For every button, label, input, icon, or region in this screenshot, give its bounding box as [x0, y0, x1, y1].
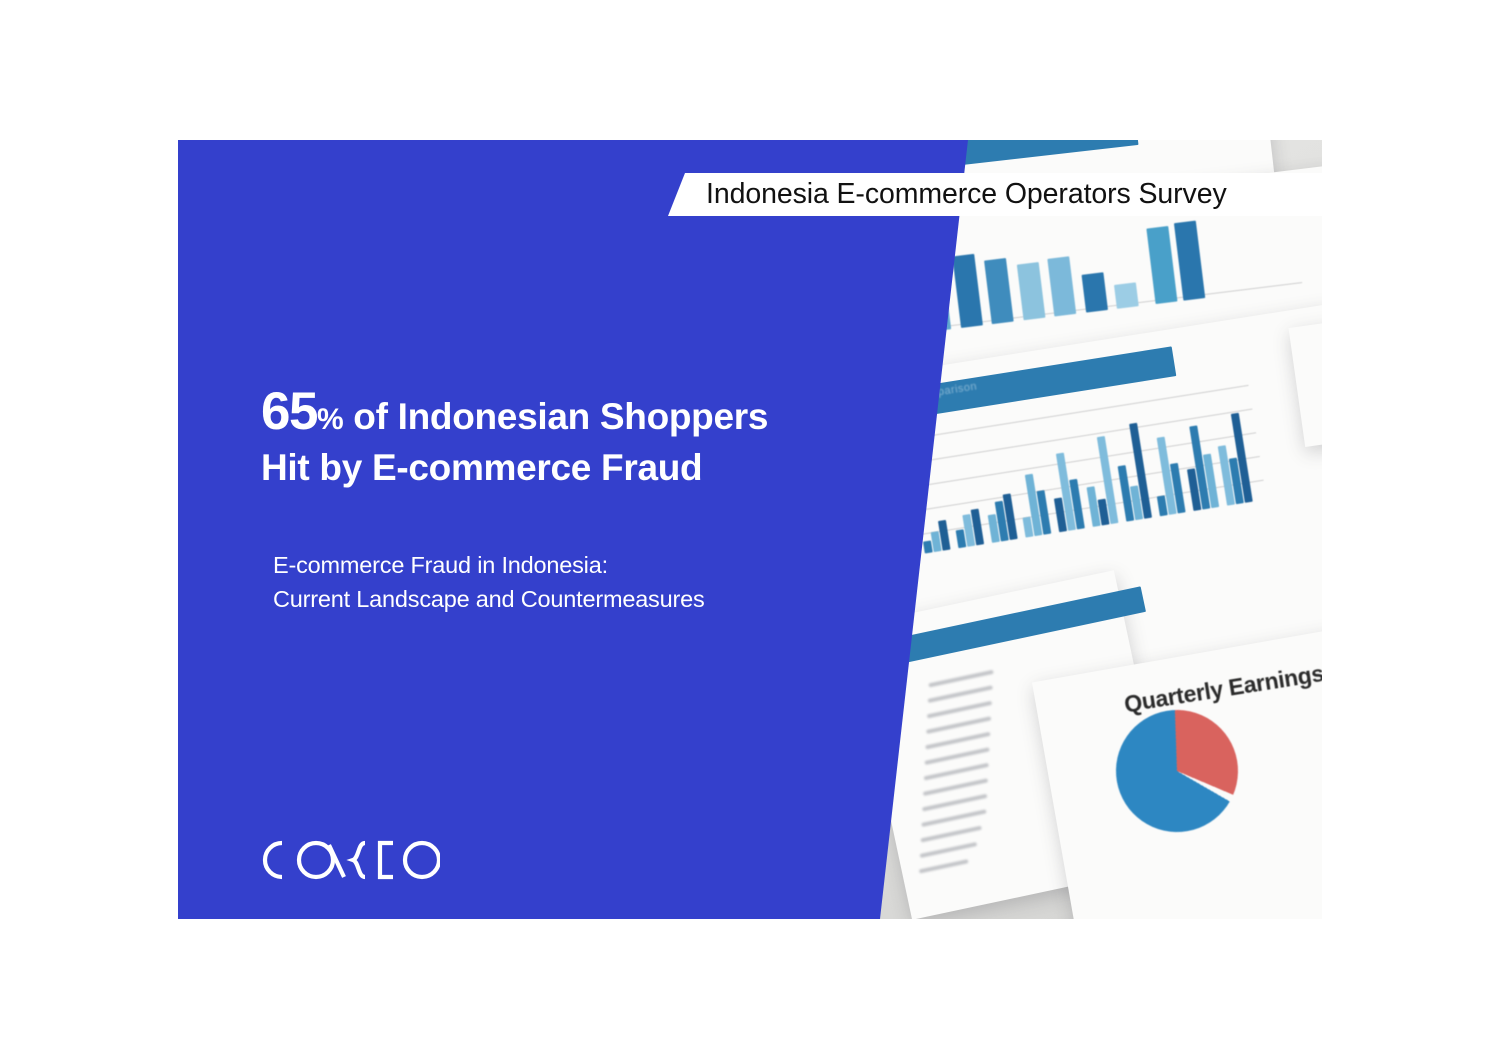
- subtitle-line-2: Current Landscape and Countermeasures: [273, 582, 893, 616]
- table-row: [921, 809, 986, 827]
- table-row: [920, 826, 981, 843]
- survey-title-text: Indonesia E-commerce Operators Survey: [706, 180, 1227, 209]
- headline-line-2: Hit by E-commerce Fraud: [261, 444, 901, 492]
- subtitle-block: E-commerce Fraud in Indonesia: Current L…: [273, 548, 893, 616]
- brand-blue-panel: [178, 140, 978, 919]
- headline-block: 65% of Indonesian Shoppers Hit by E-comm…: [261, 388, 901, 492]
- cacco-wordmark-logo: CACCO: [260, 832, 440, 888]
- bar: [984, 258, 1014, 324]
- table-row: [926, 716, 991, 734]
- bar: [1174, 221, 1205, 301]
- table-row: [924, 747, 989, 765]
- table-row: [924, 763, 989, 781]
- headline-line-1-rest: of Indonesian Shoppers: [343, 396, 768, 437]
- slide-card: Marketing Dashboard: [178, 140, 1322, 919]
- table-row: [922, 794, 987, 812]
- bar: [1047, 256, 1076, 316]
- headline-line-1: 65% of Indonesian Shoppers: [261, 388, 901, 444]
- table-row: [925, 732, 990, 750]
- bar: [1114, 282, 1139, 309]
- headline-stat-number: 65: [261, 382, 317, 441]
- table-row: [927, 701, 992, 719]
- bar: [1017, 262, 1046, 320]
- table-row: [928, 685, 993, 703]
- survey-title-banner: Indonesia E-commerce Operators Survey: [668, 173, 1322, 216]
- headline-percent-sign: %: [317, 403, 343, 436]
- bar: [1082, 272, 1108, 312]
- table-row: [923, 778, 988, 796]
- bar: [1146, 226, 1177, 304]
- bar: [952, 254, 983, 328]
- table-row: [920, 842, 978, 858]
- subtitle-line-1: E-commerce Fraud in Indonesia:: [273, 548, 893, 582]
